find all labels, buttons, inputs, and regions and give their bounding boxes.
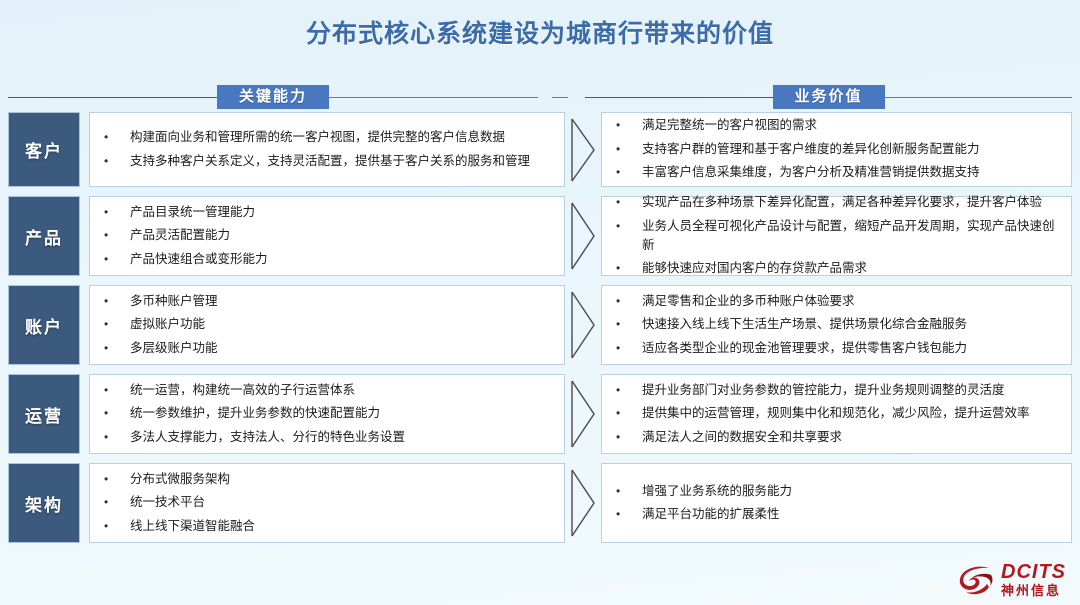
bullet-icon: •	[104, 470, 130, 489]
column-header-left-label: 关键能力	[217, 85, 329, 109]
list-item: • 业务人员全程可视化产品设计与配置，缩短产品开发周期，实现产品快速创新	[616, 215, 1061, 258]
header-rule-tail	[552, 97, 568, 98]
list-item: • 丰富客户信息采集维度，为客户分析及精准营销提供数据支持	[616, 161, 1061, 184]
list-item-text: 满足完整统一的客户视图的需求	[642, 116, 1061, 135]
bullet-icon: •	[104, 517, 130, 536]
bullet-icon: •	[104, 339, 130, 358]
list-item-text: 提升业务部门对业务参数的管控能力，提升业务规则调整的灵活度	[642, 381, 1061, 400]
row-label-product: 产品	[8, 196, 80, 276]
column-header-right-label: 业务价值	[773, 85, 885, 109]
bullet-icon: •	[616, 140, 642, 159]
bullet-icon: •	[104, 404, 130, 423]
value-box-account: • 满足零售和企业的多币种账户体验要求 • 快速接入线上线下生活生产场景、提供场…	[601, 285, 1072, 365]
table-row: 产品 • 产品目录统一管理能力 • 产品灵活配置能力 • 产品快速组合或变形能力…	[0, 196, 1080, 276]
list-item-text: 线上线下渠道智能融合	[130, 517, 554, 536]
list-item: • 增强了业务系统的服务能力	[616, 480, 1061, 503]
list-item: • 虚拟账户功能	[104, 313, 554, 336]
bullet-icon: •	[104, 381, 130, 400]
list-item-text: 统一运营，构建统一高效的子行运营体系	[130, 381, 554, 400]
list-item: • 适应各类型企业的现金池管理要求，提供零售客户钱包能力	[616, 337, 1061, 360]
bullet-icon: •	[104, 493, 130, 512]
list-item: • 支持多种客户关系定义，支持灵活配置，提供基于客户关系的服务和管理	[104, 150, 554, 173]
list-item: • 产品目录统一管理能力	[104, 201, 554, 224]
dcits-swirl-icon	[957, 563, 995, 597]
list-item-text: 统一参数维护，提升业务参数的快速配置能力	[130, 404, 554, 423]
list-item: • 提升业务部门对业务参数的管控能力，提升业务规则调整的灵活度	[616, 379, 1061, 402]
bullet-icon: •	[616, 259, 642, 278]
list-item-text: 构建面向业务和管理所需的统一客户视图，提供完整的客户信息数据	[130, 128, 554, 147]
list-item: • 产品灵活配置能力	[104, 224, 554, 247]
row-label-operations: 运营	[8, 374, 80, 454]
bullet-icon: •	[104, 152, 130, 171]
list-item-text: 统一技术平台	[130, 493, 554, 512]
bullet-icon: •	[616, 339, 642, 358]
list-item-text: 产品目录统一管理能力	[130, 203, 554, 222]
page-title: 分布式核心系统建设为城商行带来的价值	[0, 14, 1080, 50]
column-header-business-value: 业务价值	[585, 83, 1072, 111]
list-item-text: 业务人员全程可视化产品设计与配置，缩短产品开发周期，实现产品快速创新	[642, 217, 1061, 256]
list-item-text: 分布式微服务架构	[130, 470, 554, 489]
logo-english-text: DCITS	[1001, 562, 1066, 582]
bullet-icon: •	[104, 203, 130, 222]
bullet-icon: •	[104, 250, 130, 269]
bullet-icon: •	[104, 128, 130, 147]
list-item: • 多层级账户功能	[104, 337, 554, 360]
capability-box-account: • 多币种账户管理 • 虚拟账户功能 • 多层级账户功能	[89, 285, 565, 365]
bullet-icon: •	[616, 428, 642, 447]
list-item-text: 产品快速组合或变形能力	[130, 250, 554, 269]
chevron-right-icon	[569, 374, 597, 454]
capability-box-operations: • 统一运营，构建统一高效的子行运营体系 • 统一参数维护，提升业务参数的快速配…	[89, 374, 565, 454]
list-item: • 多法人支撑能力，支持法人、分行的特色业务设置	[104, 426, 554, 449]
chevron-right-icon	[569, 196, 597, 276]
list-item: • 满足法人之间的数据安全和共享要求	[616, 426, 1061, 449]
list-item: • 统一参数维护，提升业务参数的快速配置能力	[104, 402, 554, 425]
list-item: • 统一技术平台	[104, 491, 554, 514]
brand-logo: DCITS 神州信息	[957, 562, 1066, 597]
chevron-right-icon	[569, 112, 597, 187]
row-label-architecture: 架构	[8, 463, 80, 543]
list-item-text: 满足法人之间的数据安全和共享要求	[642, 428, 1061, 447]
row-label-customer: 客户	[8, 112, 80, 187]
bullet-icon: •	[104, 428, 130, 447]
list-item-text: 多层级账户功能	[130, 339, 554, 358]
capability-box-architecture: • 分布式微服务架构 • 统一技术平台 • 线上线下渠道智能融合	[89, 463, 565, 543]
list-item: • 满足平台功能的扩展柔性	[616, 503, 1061, 526]
list-item-text: 实现产品在多种场景下差异化配置，满足各种差异化要求，提升客户体验	[642, 193, 1061, 212]
list-item-text: 丰富客户信息采集维度，为客户分析及精准营销提供数据支持	[642, 163, 1061, 182]
list-item-text: 支持客户群的管理和基于客户维度的差异化创新服务配置能力	[642, 140, 1061, 159]
list-item: • 满足零售和企业的多币种账户体验要求	[616, 290, 1061, 313]
value-box-architecture: • 增强了业务系统的服务能力 • 满足平台功能的扩展柔性	[601, 463, 1072, 543]
list-item: • 满足完整统一的客户视图的需求	[616, 114, 1061, 137]
column-header-key-capabilities: 关键能力	[8, 83, 568, 111]
table-row: 账户 • 多币种账户管理 • 虚拟账户功能 • 多层级账户功能 • 满足零售和企…	[0, 285, 1080, 365]
list-item-text: 支持多种客户关系定义，支持灵活配置，提供基于客户关系的服务和管理	[130, 152, 554, 171]
list-item-text: 多币种账户管理	[130, 292, 554, 311]
bullet-icon: •	[616, 482, 642, 501]
list-item-text: 提供集中的运营管理，规则集中化和规范化，减少风险，提升运营效率	[642, 404, 1061, 423]
capability-box-customer: • 构建面向业务和管理所需的统一客户视图，提供完整的客户信息数据 • 支持多种客…	[89, 112, 565, 187]
bullet-icon: •	[616, 193, 642, 212]
list-item: • 多币种账户管理	[104, 290, 554, 313]
list-item-text: 增强了业务系统的服务能力	[642, 482, 1061, 501]
capability-box-product: • 产品目录统一管理能力 • 产品灵活配置能力 • 产品快速组合或变形能力	[89, 196, 565, 276]
bullet-icon: •	[616, 217, 642, 236]
value-box-operations: • 提升业务部门对业务参数的管控能力，提升业务规则调整的灵活度 • 提供集中的运…	[601, 374, 1072, 454]
table-row: 架构 • 分布式微服务架构 • 统一技术平台 • 线上线下渠道智能融合 • 增强…	[0, 463, 1080, 543]
bullet-icon: •	[104, 292, 130, 311]
column-headers: 关键能力 业务价值	[0, 83, 1080, 111]
bullet-icon: •	[616, 505, 642, 524]
list-item: • 支持客户群的管理和基于客户维度的差异化创新服务配置能力	[616, 138, 1061, 161]
bullet-icon: •	[616, 163, 642, 182]
list-item: • 构建面向业务和管理所需的统一客户视图，提供完整的客户信息数据	[104, 126, 554, 149]
bullet-icon: •	[104, 315, 130, 334]
header-rule-right-2	[885, 97, 1073, 98]
chevron-right-icon	[569, 463, 597, 543]
content-rows: 客户 • 构建面向业务和管理所需的统一客户视图，提供完整的客户信息数据 • 支持…	[0, 112, 1080, 552]
header-rule-left-2	[585, 97, 773, 98]
list-item-text: 能够快速应对国内客户的存贷款产品需求	[642, 259, 1061, 278]
list-item: • 产品快速组合或变形能力	[104, 248, 554, 271]
logo-wordmark: DCITS 神州信息	[1001, 562, 1066, 597]
row-label-account: 账户	[8, 285, 80, 365]
header-rule-right	[329, 97, 538, 98]
logo-chinese-text: 神州信息	[1001, 584, 1066, 597]
chevron-right-icon	[569, 285, 597, 365]
bullet-icon: •	[616, 381, 642, 400]
list-item: • 分布式微服务架构	[104, 468, 554, 491]
list-item-text: 多法人支撑能力，支持法人、分行的特色业务设置	[130, 428, 554, 447]
bullet-icon: •	[616, 292, 642, 311]
value-box-product: • 实现产品在多种场景下差异化配置，满足各种差异化要求，提升客户体验 • 业务人…	[601, 196, 1072, 276]
bullet-icon: •	[104, 226, 130, 245]
table-row: 客户 • 构建面向业务和管理所需的统一客户视图，提供完整的客户信息数据 • 支持…	[0, 112, 1080, 187]
list-item: • 线上线下渠道智能融合	[104, 515, 554, 538]
table-row: 运营 • 统一运营，构建统一高效的子行运营体系 • 统一参数维护，提升业务参数的…	[0, 374, 1080, 454]
bullet-icon: •	[616, 315, 642, 334]
list-item-text: 虚拟账户功能	[130, 315, 554, 334]
list-item: • 实现产品在多种场景下差异化配置，满足各种差异化要求，提升客户体验	[616, 191, 1061, 214]
list-item-text: 产品灵活配置能力	[130, 226, 554, 245]
list-item-text: 适应各类型企业的现金池管理要求，提供零售客户钱包能力	[642, 339, 1061, 358]
list-item: • 快速接入线上线下生活生产场景、提供场景化综合金融服务	[616, 313, 1061, 336]
value-box-customer: • 满足完整统一的客户视图的需求 • 支持客户群的管理和基于客户维度的差异化创新…	[601, 112, 1072, 187]
list-item: • 统一运营，构建统一高效的子行运营体系	[104, 379, 554, 402]
list-item: • 提供集中的运营管理，规则集中化和规范化，减少风险，提升运营效率	[616, 402, 1061, 425]
list-item-text: 满足平台功能的扩展柔性	[642, 505, 1061, 524]
list-item-text: 满足零售和企业的多币种账户体验要求	[642, 292, 1061, 311]
list-item: • 能够快速应对国内客户的存贷款产品需求	[616, 257, 1061, 280]
bullet-icon: •	[616, 404, 642, 423]
bullet-icon: •	[616, 116, 642, 135]
list-item-text: 快速接入线上线下生活生产场景、提供场景化综合金融服务	[642, 315, 1061, 334]
header-rule-left	[8, 97, 217, 98]
